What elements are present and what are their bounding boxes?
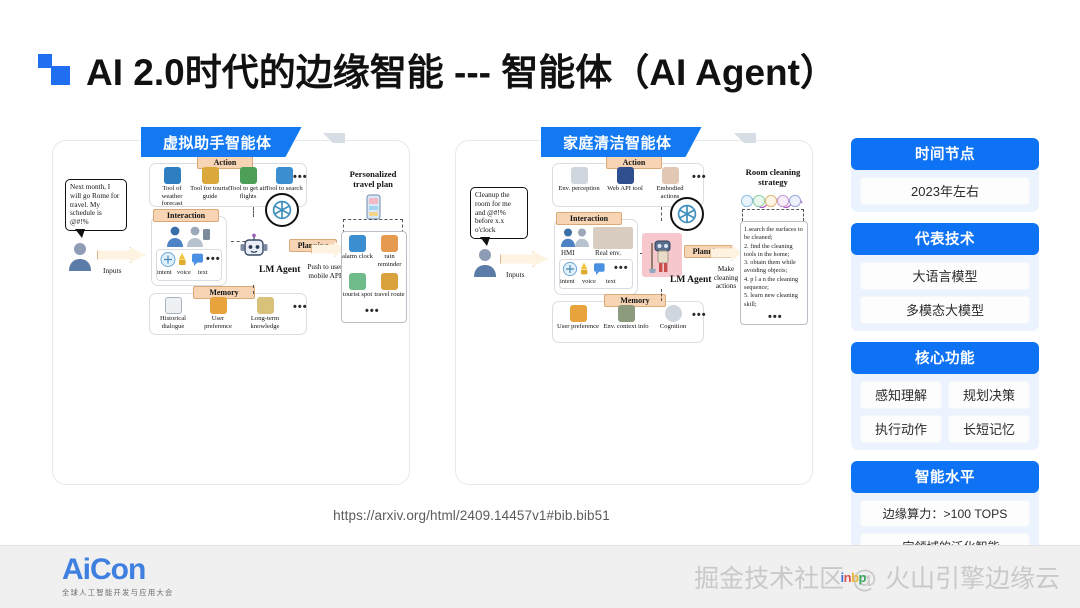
output-more-dots: ••• [768, 311, 783, 323]
memory-item-2-label: Long-term knowledge [245, 315, 285, 330]
inputs-label: Inputs [506, 270, 524, 279]
brand-ai: Ai [62, 553, 90, 586]
llm-logo-icon [675, 202, 699, 226]
strategy-step-chain-icon [740, 193, 806, 209]
action-more-dots: ••• [293, 171, 308, 183]
action-tool-2-label: Tool to get air flights [228, 185, 268, 200]
action-more-dots: ••• [692, 171, 707, 183]
sidebar-panel-core-functions: 核心功能 感知理解 规划决策 执行动作 长短记忆 [851, 342, 1039, 450]
panel-item[interactable]: 2023年左右 [860, 177, 1030, 205]
output-title: Personalized travel plan [341, 169, 405, 189]
output-item-3: travel route [373, 273, 406, 299]
action-tool-0-label: Tool of weather forecast [152, 185, 192, 208]
interaction-item-hmi: HMI [561, 249, 575, 257]
strategy-step-1: 2. find the cleaning tools in the home; [744, 243, 805, 260]
memory-item-2: Cognition [652, 305, 694, 331]
strategy-step-4: 5. learn new cleaning skill; [744, 292, 805, 309]
interaction-mode-voice: voice [177, 269, 191, 276]
info-sidebar: 时间节点 2023年左右 代表技术 大语言模型 多模态大模型 核心功能 感知理解… [851, 138, 1039, 578]
watermark-logo-icon: inbp [841, 570, 866, 585]
interaction-more-dots: ••• [614, 262, 629, 274]
interaction-mode-text: text [198, 269, 208, 276]
lm-agent-robot-icon [239, 233, 269, 263]
interaction-mode-icons [160, 251, 204, 268]
action-tool-0-label: Env. perception [556, 185, 602, 193]
memory-item-0-label: User preference [556, 323, 600, 331]
interaction-mode-intent: intent [560, 278, 575, 285]
cleaning-robot-icon [648, 237, 678, 275]
action-tool-1-label: Web API tool [604, 185, 646, 193]
inputs-arrow [97, 247, 145, 263]
footer-divider [0, 545, 1080, 546]
output-item-0-label: alarm clock [341, 253, 374, 261]
user-request-bubble: Next month, I will go Rome for travel. M… [65, 179, 127, 231]
action-tool-1: Web API tool [604, 167, 646, 193]
brand-subtitle: 全球人工智能开发与应用大会 [62, 588, 174, 598]
aicon-logo: AiCon 全球人工智能开发与应用大会 [62, 555, 174, 598]
memory-more-dots: ••• [293, 301, 308, 313]
output-item-2-label: tourist spot [341, 291, 374, 299]
inputs-label: Inputs [103, 266, 121, 275]
user-request-bubble: Cleanup the room for me and @#!% before … [470, 187, 528, 239]
panel-item[interactable]: 长短记忆 [948, 415, 1030, 443]
panel-item[interactable]: 多模态大模型 [860, 296, 1030, 324]
user-avatar-icon [472, 247, 498, 277]
user-avatar-icon [67, 241, 93, 271]
panel-item[interactable]: 大语言模型 [860, 262, 1030, 290]
action-tool-0: Tool of weather forecast [152, 167, 192, 208]
lm-agent-label: LM Agent [259, 265, 300, 275]
output-item-1: rain reminder [373, 235, 406, 268]
llm-logo-icon [270, 198, 294, 222]
output-dashed-connector [742, 209, 804, 221]
memory-item-0: Historical dialogue [153, 297, 193, 330]
title-bullet-squares-icon [38, 52, 72, 86]
figure-virtual-assistant: Next month, I will go Rome for travel. M… [53, 141, 409, 484]
slide-title-row: AI 2.0时代的边缘智能 --- 智能体（AI Agent） [38, 42, 837, 96]
interaction-item-realenv: Real env. [595, 249, 621, 257]
interaction-mode-text: text [606, 278, 616, 285]
action-tool-2: Embodied actions [648, 167, 692, 200]
mobile-phone-icon [359, 193, 387, 221]
agent-link-down [253, 285, 254, 294]
interaction-more-dots: ••• [206, 253, 221, 265]
agent-thought-bubble [265, 193, 299, 227]
agent-link-up [661, 207, 662, 221]
watermark-text: 掘金技术社区 @ 火山引擎边缘云 [694, 559, 1060, 595]
inputs-arrow [500, 251, 548, 267]
diagram-card-home-cleaning: 家庭清洁智能体 Cleanup the room for me and @#!%… [455, 140, 813, 485]
source-url-text: https://arxiv.org/html/2409.14457v1#bib.… [333, 508, 610, 523]
panel-item[interactable]: 边缘算力：>100 TOPS [860, 500, 1030, 527]
output-item-0: alarm clock [341, 235, 374, 261]
output-more-dots: ••• [365, 305, 380, 317]
memory-item-0-label: Historical dialogue [153, 315, 193, 330]
real-env-photo [593, 227, 633, 249]
action-tool-2: Tool to get air flights [228, 167, 268, 200]
interaction-mode-voice: voice [582, 278, 596, 285]
memory-item-2: Long-term knowledge [245, 297, 285, 330]
panel-title: 智能水平 [851, 461, 1039, 493]
interaction-mode-intent: intent [157, 269, 172, 276]
output-item-2: tourist spot [341, 273, 374, 299]
memory-more-dots: ••• [692, 309, 707, 321]
output-title: Room cleaning strategy [740, 167, 806, 187]
panel-title: 代表技术 [851, 223, 1039, 255]
interaction-mode-icons [562, 261, 606, 277]
interaction-title: Interaction [556, 212, 622, 225]
strategy-steps: 1.search the surfaces to be cleaned; 2. … [740, 223, 808, 309]
agent-link-up [253, 207, 254, 217]
strategy-step-2: 3. obtain them while avoiding objects; [744, 259, 805, 276]
slide-footer: AiCon 全球人工智能开发与应用大会 掘金技术社区 @ 火山引擎边缘云 inb… [0, 545, 1080, 608]
panel-item[interactable]: 规划决策 [948, 381, 1030, 409]
action-tool-1-label: Tool for tourist guide [190, 185, 230, 200]
action-tool-1: Tool for tourist guide [190, 167, 230, 200]
memory-item-1-label: Env. context info [602, 323, 650, 331]
card-ribbon-label: 虚拟助手智能体 [141, 127, 302, 157]
diagram-card-virtual-assistant: 虚拟助手智能体 Next month, I will go Rome for t… [52, 140, 410, 485]
hmi-people-icon [560, 227, 590, 247]
figure-home-cleaning: Cleanup the room for me and @#!% before … [456, 141, 812, 484]
memory-item-0: User preference [556, 305, 600, 331]
memory-item-1: Env. context info [602, 305, 650, 331]
memory-item-1-label: User preference [198, 315, 238, 330]
agent-link-down [661, 289, 662, 301]
panel-item[interactable]: 感知理解 [860, 381, 942, 409]
output-item-3-label: travel route [373, 291, 406, 299]
strategy-step-0: 1.search the surfaces to be cleaned; [744, 226, 805, 243]
output-item-1-label: rain reminder [373, 253, 406, 268]
card-ribbon-label: 家庭清洁智能体 [541, 127, 702, 157]
brand-con: Con [90, 553, 145, 586]
agent-thought-bubble [670, 197, 704, 231]
memory-item-1: User preference [198, 297, 238, 330]
panel-item[interactable]: 执行动作 [860, 415, 942, 443]
page-title: AI 2.0时代的边缘智能 --- 智能体（AI Agent） [86, 42, 837, 96]
interaction-title: Interaction [153, 209, 219, 222]
action-tool-0: Env. perception [556, 167, 602, 193]
sidebar-panel-technology: 代表技术 大语言模型 多模态大模型 [851, 223, 1039, 331]
strategy-step-3: 4. p l a n the cleaning sequence; [744, 276, 805, 293]
sidebar-panel-timeline: 时间节点 2023年左右 [851, 138, 1039, 212]
panel-title: 核心功能 [851, 342, 1039, 374]
memory-item-2-label: Cognition [652, 323, 694, 331]
panel-title: 时间节点 [851, 138, 1039, 170]
interaction-people-icon [165, 225, 211, 247]
